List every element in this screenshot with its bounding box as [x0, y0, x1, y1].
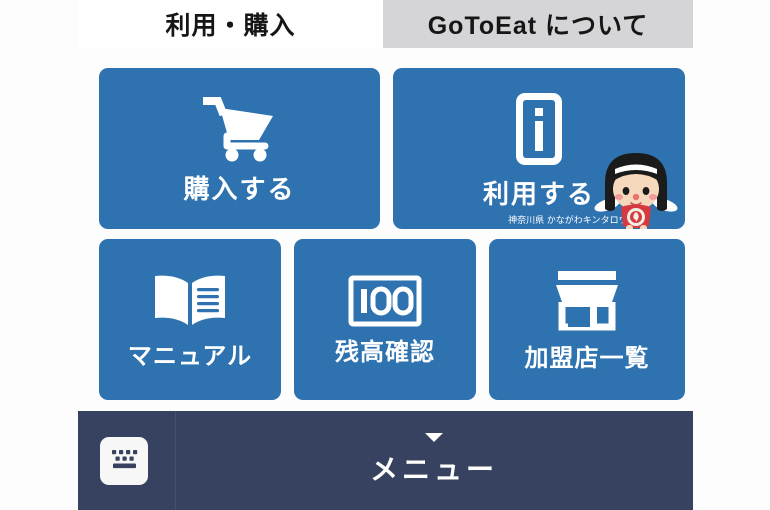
card-balance-label: 残高確認 [335, 341, 435, 365]
open-book-icon [150, 271, 230, 331]
shopping-cart-icon [203, 96, 277, 162]
banknote-icon [348, 275, 422, 327]
information-smartphone-icon [514, 91, 564, 167]
tab-bar: 利用・購入 GoToEat について [0, 0, 770, 50]
menu-label: メニュー [370, 448, 498, 488]
tab-use-purchase[interactable]: 利用・購入 [78, 0, 383, 48]
card-manual[interactable]: マニュアル [99, 239, 281, 400]
tab-about-gotoeat-label: GoToEat について [428, 6, 649, 42]
bottom-bar: メニュー [78, 411, 693, 510]
menu-button[interactable]: メニュー [175, 411, 693, 510]
card-shops[interactable]: 加盟店一覧 [489, 239, 685, 400]
action-card-grid: 購入する 利用する 神奈川県 かながわキンタロウ#20 [0, 52, 770, 404]
card-use[interactable]: 利用する 神奈川県 かながわキンタロウ#20 [393, 68, 685, 229]
tab-about-gotoeat[interactable]: GoToEat について [383, 0, 693, 48]
keyboard-button[interactable] [100, 437, 148, 485]
card-manual-label: マニュアル [128, 345, 252, 369]
card-buy[interactable]: 購入する [99, 68, 380, 229]
card-balance[interactable]: 残高確認 [294, 239, 476, 400]
card-shops-label: 加盟店一覧 [525, 347, 650, 371]
tab-use-purchase-label: 利用・購入 [165, 6, 295, 42]
storefront-icon [546, 269, 628, 333]
caret-down-icon [425, 433, 443, 442]
card-buy-label: 購入する [183, 176, 295, 202]
card-use-label: 利用する [483, 181, 595, 207]
mascot-caption: 神奈川県 かながわキンタロウ#20 [508, 213, 643, 226]
keyboard-icon [108, 446, 140, 477]
